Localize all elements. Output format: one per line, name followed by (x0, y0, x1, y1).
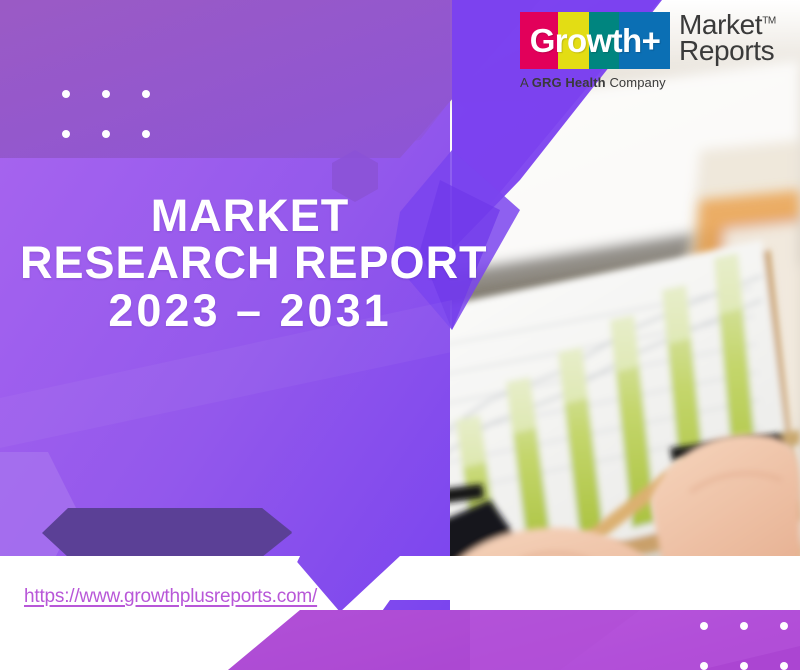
title-line-market: MARKET (20, 192, 480, 239)
tagline-prefix: A (520, 75, 532, 90)
decor-dot (102, 130, 110, 138)
decor-dot (62, 90, 70, 98)
hexagon-bar-body (42, 508, 292, 557)
decor-dot (102, 90, 110, 98)
company-logo: Growth+ MarketTM Reports A GRG Health Co… (520, 12, 788, 90)
tagline-brand: GRG Health (532, 75, 606, 90)
decor-dot (740, 662, 748, 670)
tagline-suffix: Company (606, 75, 666, 90)
decor-dot (700, 662, 708, 670)
logo-color-bands: Growth+ (520, 12, 670, 69)
decor-dot (142, 130, 150, 138)
dot-grid-top-left (62, 90, 150, 138)
logo-wordmark-growth-plus: Growth+ (520, 12, 670, 69)
website-url-link[interactable]: https://www.growthplusreports.com/ (24, 586, 317, 608)
decor-dot (62, 130, 70, 138)
decor-dot (142, 90, 150, 98)
decor-dot (740, 622, 748, 630)
dot-grid-bottom-right (700, 622, 788, 670)
trademark-icon: TM (762, 16, 776, 27)
decor-dot (780, 622, 788, 630)
logo-tagline: A GRG Health Company (520, 75, 788, 90)
logo-text-reports: Reports (679, 38, 776, 64)
report-cover: MARKET RESEARCH REPORT 2023 – 2031 https… (0, 0, 800, 670)
title-line-years: 2023 – 2031 (20, 287, 480, 334)
report-title: MARKET RESEARCH REPORT 2023 – 2031 (20, 192, 480, 334)
decor-dot (780, 662, 788, 670)
title-line-research-report: RESEARCH REPORT (20, 239, 480, 286)
decor-dot (700, 622, 708, 630)
